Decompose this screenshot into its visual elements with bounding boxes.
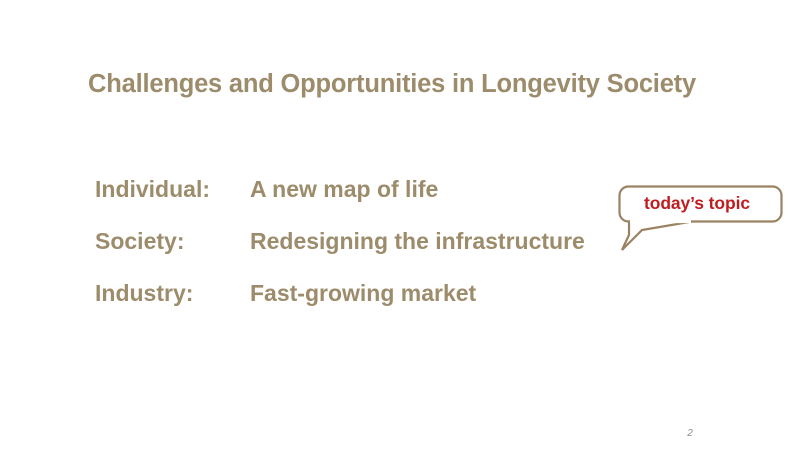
row-label-individual: Individual: — [95, 176, 250, 203]
body-list: Individual: A new map of life Society: R… — [95, 176, 655, 332]
row-label-society: Society: — [95, 228, 250, 255]
list-item: Society: Redesigning the infrastructure — [95, 228, 655, 280]
slide-title: Challenges and Opportunities in Longevit… — [88, 70, 768, 99]
callout-tail — [622, 222, 692, 251]
row-value-society: Redesigning the infrastructure — [250, 228, 655, 255]
list-item: Industry: Fast-growing market — [95, 280, 655, 332]
row-value-individual: A new map of life — [250, 176, 655, 203]
page-number: 2 — [672, 428, 708, 439]
slide-canvas: Challenges and Opportunities in Longevit… — [0, 0, 800, 450]
callout-bubble: today’s topic — [612, 178, 790, 258]
row-label-industry: Industry: — [95, 280, 250, 307]
list-item: Individual: A new map of life — [95, 176, 655, 228]
row-value-industry: Fast-growing market — [250, 280, 655, 307]
callout-label: today’s topic — [612, 186, 782, 221]
